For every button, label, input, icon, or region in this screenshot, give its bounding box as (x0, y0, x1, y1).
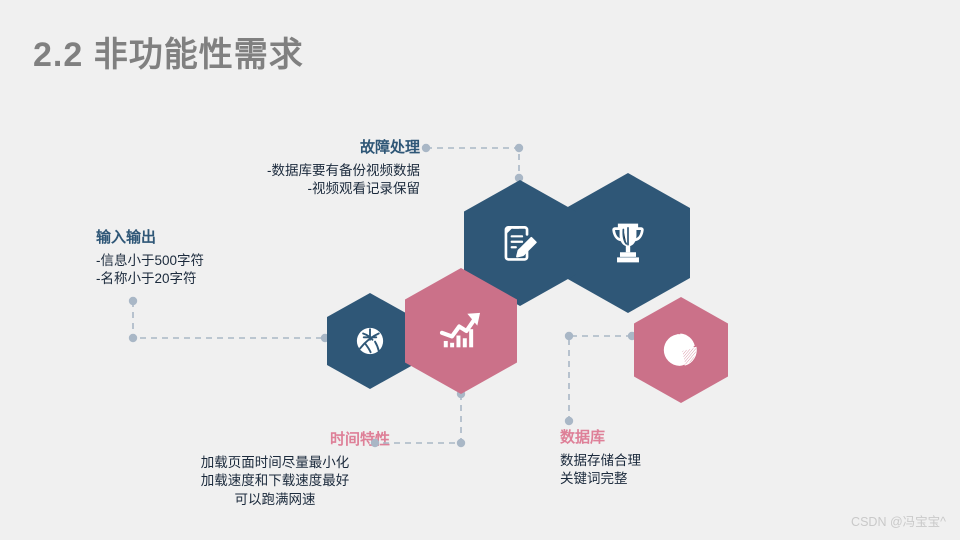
label-line: 加载速度和下载速度最好 (160, 472, 390, 490)
label-heading-database: 数据库 (560, 428, 760, 448)
label-block-fault: 故障处理 -数据库要有备份视频数据 -视频观看记录保留 (206, 138, 420, 199)
connector-dot (565, 417, 573, 425)
slide-canvas: 2.2 非功能性需求 (0, 0, 960, 540)
connector-dot (422, 144, 430, 152)
connector-dot (129, 297, 137, 305)
hexagon-io[interactable] (327, 293, 413, 389)
label-line: 加载页面时间尽量最小化 (160, 454, 390, 472)
connector-fault (426, 148, 519, 178)
label-block-time: 时间特性 加载页面时间尽量最小化 加载速度和下载速度最好 可以跑满网速 (160, 430, 390, 509)
label-line: 可以跑满网速 (160, 491, 390, 509)
label-line: -信息小于500字符 (96, 252, 276, 270)
document-pencil-icon (495, 218, 545, 268)
trophy-icon (601, 216, 655, 270)
pie-chart-icon (659, 328, 703, 372)
label-body-database: 数据存储合理 关键词完整 (560, 452, 760, 488)
label-block-database: 数据库 数据存储合理 关键词完整 (560, 428, 760, 489)
label-heading-io: 输入输出 (96, 228, 276, 248)
connector-dot (457, 439, 465, 447)
label-heading-time: 时间特性 (160, 430, 390, 450)
label-line: 关键词完整 (560, 470, 760, 488)
label-line: -名称小于20字符 (96, 270, 276, 288)
label-line: 数据存储合理 (560, 452, 760, 470)
hexagon-reliability[interactable] (566, 173, 690, 313)
label-body-time: 加载页面时间尽量最小化 加载速度和下载速度最好 可以跑满网速 (160, 454, 390, 509)
hexagon-database[interactable] (634, 297, 728, 403)
label-body-fault: -数据库要有备份视频数据 -视频观看记录保留 (206, 162, 420, 198)
connector-dot (515, 144, 523, 152)
connector-dot (565, 332, 573, 340)
label-body-io: -信息小于500字符 -名称小于20字符 (96, 252, 276, 288)
label-block-io: 输入输出 -信息小于500字符 -名称小于20字符 (96, 228, 276, 289)
globe-network-icon (350, 321, 390, 361)
connector-dot (129, 334, 137, 342)
growth-chart-icon (432, 302, 490, 360)
label-line: -视频观看记录保留 (206, 180, 420, 198)
connector-database (569, 336, 632, 421)
label-line: -数据库要有备份视频数据 (206, 162, 420, 180)
page-title: 2.2 非功能性需求 (33, 27, 304, 76)
connector-io (133, 301, 325, 338)
label-heading-fault: 故障处理 (206, 138, 420, 158)
watermark: CSDN @冯宝宝^ (851, 511, 946, 530)
